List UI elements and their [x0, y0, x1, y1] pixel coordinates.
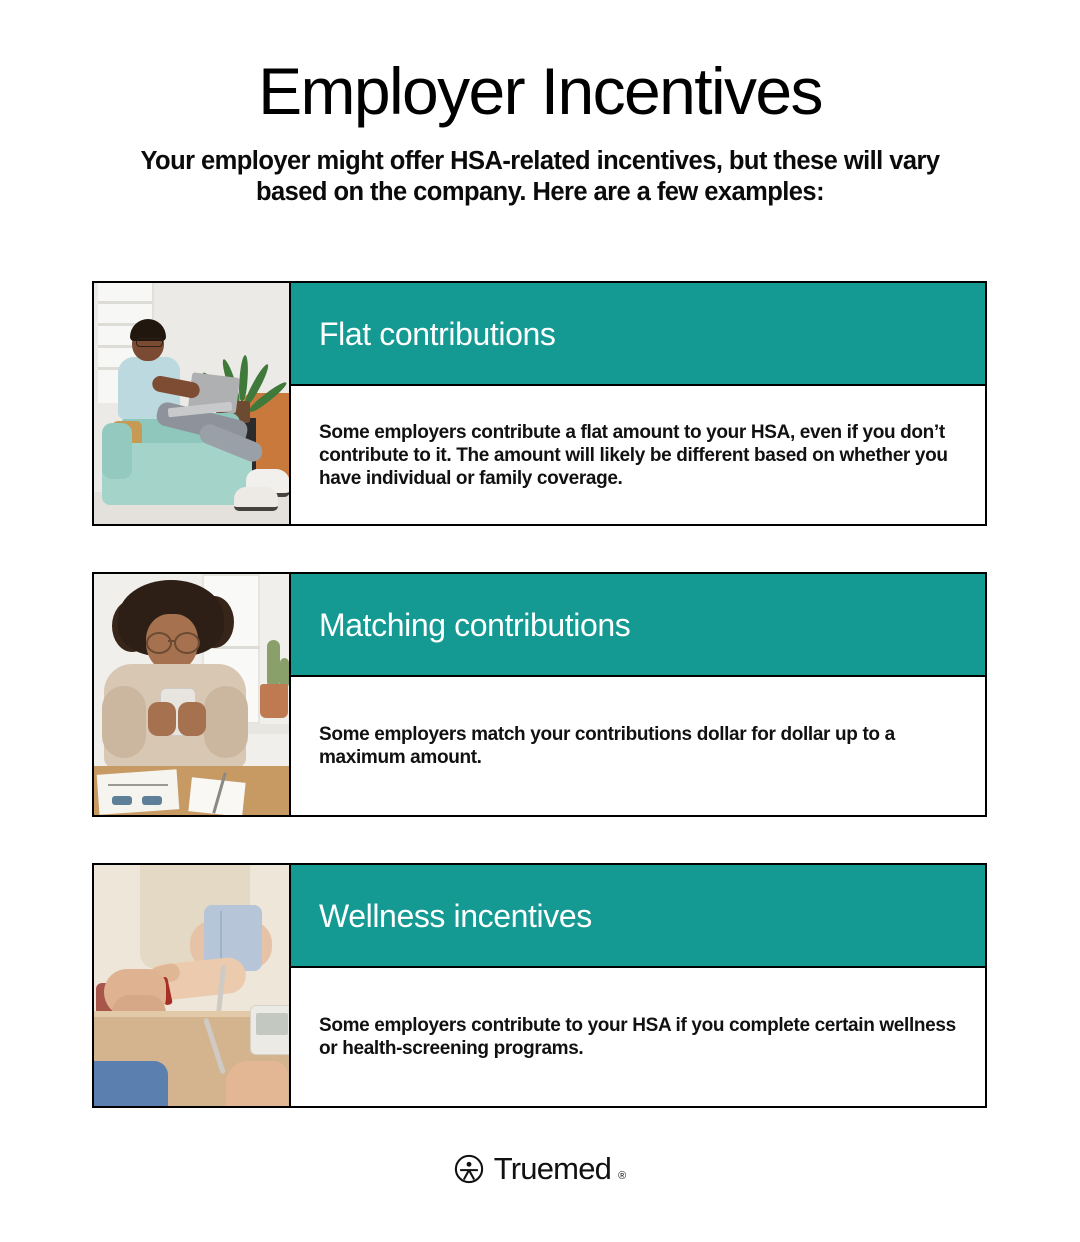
card-text-area: Some employers contribute to your HSA if…	[291, 968, 985, 1106]
incentive-card-list: Flat contributions Some employers contri…	[92, 281, 987, 1108]
card-body: Matching contributions Some employers ma…	[291, 574, 985, 815]
card-body: Flat contributions Some employers contri…	[291, 283, 985, 524]
footer-branding: Truemed ®	[0, 1152, 1080, 1186]
card-header: Flat contributions	[291, 283, 985, 386]
incentive-card: Flat contributions Some employers contri…	[92, 281, 987, 526]
card-header: Wellness incentives	[291, 865, 985, 968]
card-text-area: Some employers contribute a flat amount …	[291, 386, 985, 524]
card-heading: Flat contributions	[319, 315, 555, 353]
page-header: Employer Incentives Your employer might …	[0, 0, 1080, 208]
card-photo-man-with-laptop-on-sofa	[94, 283, 291, 524]
truemed-logo-icon	[454, 1154, 484, 1184]
registered-trademark-mark: ®	[618, 1170, 626, 1186]
card-heading: Matching contributions	[319, 606, 630, 644]
card-description: Some employers match your contributions …	[319, 723, 957, 769]
card-photo-woman-with-phone-at-desk	[94, 574, 291, 815]
infographic-page: Employer Incentives Your employer might …	[0, 0, 1080, 1242]
card-text-area: Some employers match your contributions …	[291, 677, 985, 815]
incentive-card: Wellness incentives Some employers contr…	[92, 863, 987, 1108]
card-heading: Wellness incentives	[319, 897, 592, 935]
card-header: Matching contributions	[291, 574, 985, 677]
brand-wordmark: Truemed	[494, 1152, 611, 1186]
card-body: Wellness incentives Some employers contr…	[291, 865, 985, 1106]
card-description: Some employers contribute a flat amount …	[319, 421, 957, 490]
incentive-card: Matching contributions Some employers ma…	[92, 572, 987, 817]
page-title: Employer Incentives	[0, 54, 1080, 128]
card-photo-blood-pressure-measurement	[94, 865, 291, 1106]
card-description: Some employers contribute to your HSA if…	[319, 1014, 957, 1060]
page-subtitle: Your employer might offer HSA-related in…	[115, 146, 965, 208]
